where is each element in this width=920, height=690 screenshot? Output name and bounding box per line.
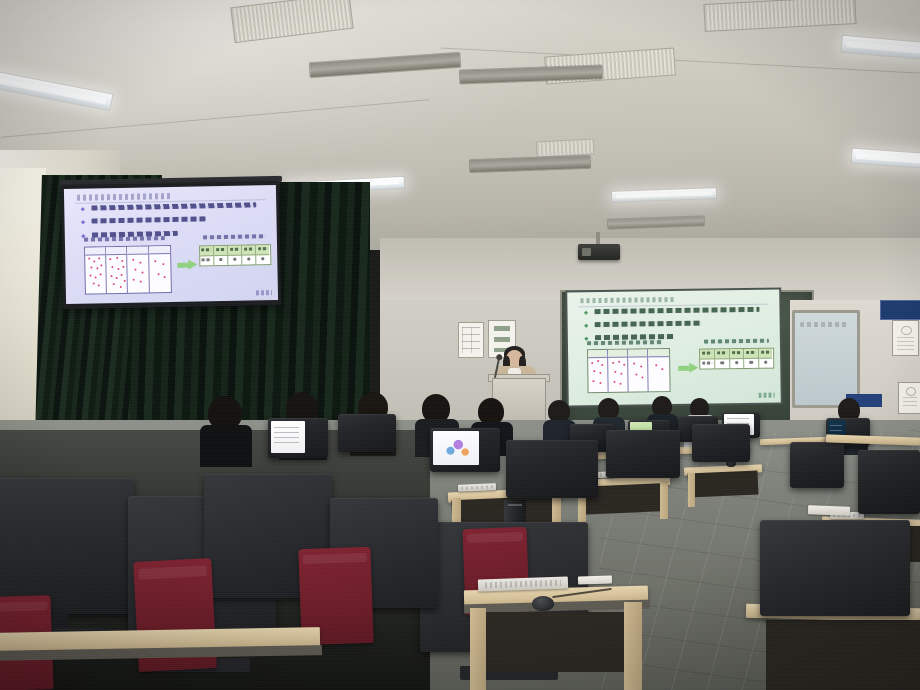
classroom-scene [0,0,920,690]
monitor [858,450,920,514]
whiteboard-writing [800,322,848,327]
monitor [338,414,396,452]
mouse [532,596,554,611]
projected-slide-secondary [567,290,781,406]
slide-footer-logo [256,290,272,295]
table-cell [200,256,214,265]
projected-slide-primary [64,185,278,304]
ceiling-projector [578,244,620,260]
framed-certificate [898,382,920,414]
table-header-cell [730,349,745,359]
desk-cavity [688,470,759,497]
table-cell [715,359,730,368]
table-cell [701,359,716,368]
slide-header [580,297,675,304]
framed-certificate [892,320,919,356]
table-header-cell [715,349,730,359]
wall-notice-grid [458,322,484,358]
tally-column [588,349,609,392]
desk-cavity [486,612,624,672]
tally-column [106,246,128,292]
monitor-screen [433,431,479,465]
monitor [506,440,598,498]
table-cell [730,359,745,368]
frequency-table [199,244,271,266]
tally-grid [84,245,172,295]
tally-grid [587,348,670,394]
table-row [701,358,773,368]
tally-column [85,247,107,293]
table-cell [257,255,270,264]
table-cell [242,255,256,264]
table-header-cell [744,348,759,358]
monitor [268,418,328,458]
slide-bullet [81,202,263,210]
table-header-cell [759,348,773,358]
tally-column [628,349,649,392]
tally-column [608,349,629,392]
monitor [606,430,680,478]
slide-bullet [81,216,263,224]
monitor [430,428,500,472]
monitor [0,478,134,614]
desk-leg [688,473,695,507]
desk-leg [470,608,486,690]
desk-cavity [766,620,920,690]
transform-arrow-icon [188,260,197,270]
table-header-cell [200,246,214,256]
transform-arrow-tail [678,365,689,370]
table-cell [214,256,228,265]
monitor [760,520,910,616]
table-cell [759,358,773,367]
table-header-cell [228,245,242,255]
tally-column [649,349,670,392]
desk-leg [624,602,642,690]
monitor [692,424,750,462]
book [578,575,612,584]
transform-arrow-tail [178,263,189,268]
book [808,505,850,515]
slide-bullet [585,320,767,328]
slide-header [77,193,172,201]
transform-arrow-icon [689,362,698,372]
slide-content [64,185,278,304]
projection-screen-primary[interactable] [61,181,281,309]
table-cell [744,358,759,367]
hvac-vent-icon [536,138,595,157]
monitor-screen [271,421,305,453]
desk-leg [660,481,668,519]
table-header-cell [242,245,256,255]
tally-column [149,246,171,292]
tally-column [127,246,149,292]
table-header-cell [700,349,715,359]
slide-content [567,290,781,406]
frequency-table [699,347,773,369]
table-cell [228,255,242,264]
table-header-cell [256,245,269,255]
monitor [790,442,844,488]
blue-wall-sign [880,300,920,320]
table-header-cell [214,246,228,256]
slide-bullet [584,307,766,315]
projection-screen-secondary[interactable] [565,287,783,407]
table-row [200,255,270,265]
slide-footer-logo [758,393,774,398]
